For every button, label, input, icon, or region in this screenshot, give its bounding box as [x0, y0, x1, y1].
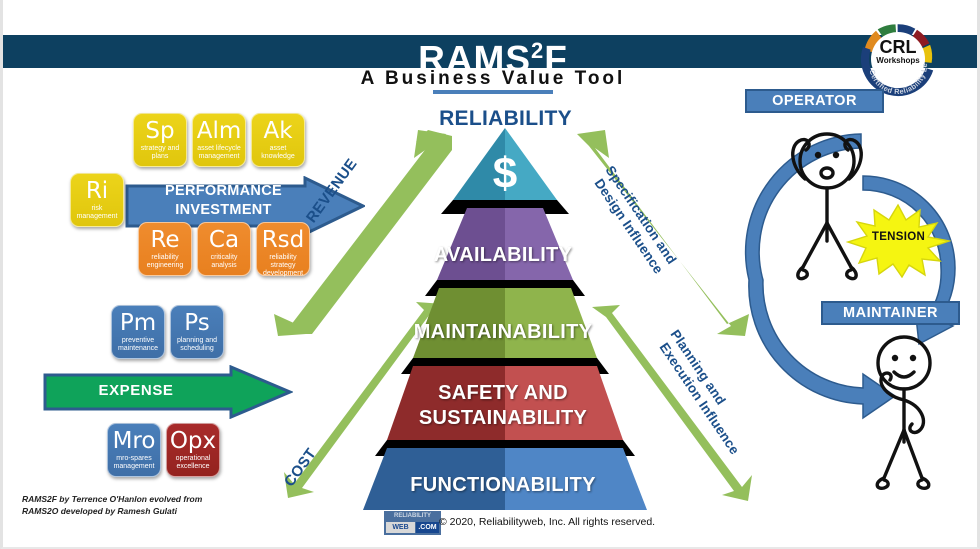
element-box-ps[interactable]: Ps planning and scheduling	[170, 305, 224, 359]
tension-label: TENSION	[846, 231, 951, 243]
subtitle-underline	[433, 90, 553, 94]
crl-logo-subtitle: Workshops	[852, 56, 944, 65]
element-caption: asset lifecycle management	[195, 145, 243, 161]
slide-canvas: RAMS2F A Business Value Tool Certified R…	[0, 0, 980, 549]
reliability-pyramid: $	[303, 110, 703, 510]
credit-text: RAMS2F by Terrence O'Hanlon evolved from…	[22, 493, 202, 517]
element-symbol: Alm	[193, 118, 245, 144]
element-caption: criticality analysis	[200, 254, 248, 270]
element-box-mro[interactable]: Mro mro-spares management	[107, 423, 161, 477]
element-box-opx[interactable]: Opx operational excellence	[166, 423, 220, 477]
element-symbol: Ri	[71, 178, 123, 204]
crl-logo-title: CRL	[852, 37, 944, 58]
role-box-operator[interactable]: OPERATOR	[745, 89, 884, 113]
element-symbol: Pm	[112, 310, 164, 336]
reliabilityweb-logo: RELIABILITY WEB .COM	[384, 511, 441, 535]
element-symbol: Ps	[171, 310, 223, 336]
element-symbol: Ca	[198, 227, 250, 253]
expense-label: EXPENSE	[51, 382, 221, 399]
element-caption: mro-spares management	[110, 455, 158, 471]
role-box-maintainer[interactable]: MAINTAINER	[821, 301, 960, 325]
pyramid-apex-dollar: $	[493, 149, 517, 198]
element-box-ca[interactable]: Ca criticality analysis	[197, 222, 251, 276]
element-symbol: Opx	[167, 428, 219, 454]
element-box-ri[interactable]: Ri risk management	[70, 173, 124, 227]
element-caption: reliability engineering	[141, 254, 189, 270]
element-caption: risk management	[73, 205, 121, 221]
tier-label-maintainability: MAINTAINABILITY	[383, 320, 623, 345]
reliabilityweb-logo-com: .COM	[416, 522, 439, 533]
element-box-alm[interactable]: Alm asset lifecycle management	[192, 113, 246, 167]
tier-label-availability: AVAILABILITY	[403, 243, 603, 268]
element-box-pm[interactable]: Pm preventive maintenance	[111, 305, 165, 359]
tier-label-functionability: FUNCTIONABILITY	[373, 473, 633, 498]
element-box-sp[interactable]: Sp strategy and plans	[133, 113, 187, 167]
reliabilityweb-logo-top: RELIABILITY	[384, 512, 441, 521]
element-caption: preventive maintenance	[114, 337, 162, 353]
element-caption: planning and scheduling	[173, 337, 221, 353]
element-box-re[interactable]: Re reliability engineering	[138, 222, 192, 276]
title-superscript: 2	[531, 38, 544, 63]
element-symbol: Sp	[134, 118, 186, 144]
credit-line-1: RAMS2F by Terrence O'Hanlon evolved from	[22, 493, 202, 505]
element-caption: operational excellence	[169, 455, 217, 471]
element-symbol: Mro	[108, 428, 160, 454]
tier-label-safety: SAFETY AND SUSTAINABILITY	[419, 382, 587, 429]
tier-label-safety-line1: SAFETY AND SUSTAINABILITY	[373, 381, 633, 431]
reliabilityweb-logo-web: WEB	[386, 522, 415, 533]
maintainer-figure	[848, 330, 958, 495]
element-symbol: Re	[139, 227, 191, 253]
element-caption: strategy and plans	[136, 145, 184, 161]
copyright-text: © 2020, Reliabilityweb, Inc. All rights …	[439, 516, 655, 528]
credit-line-2: RAMS2O developed by Ramesh Gulati	[22, 505, 202, 517]
